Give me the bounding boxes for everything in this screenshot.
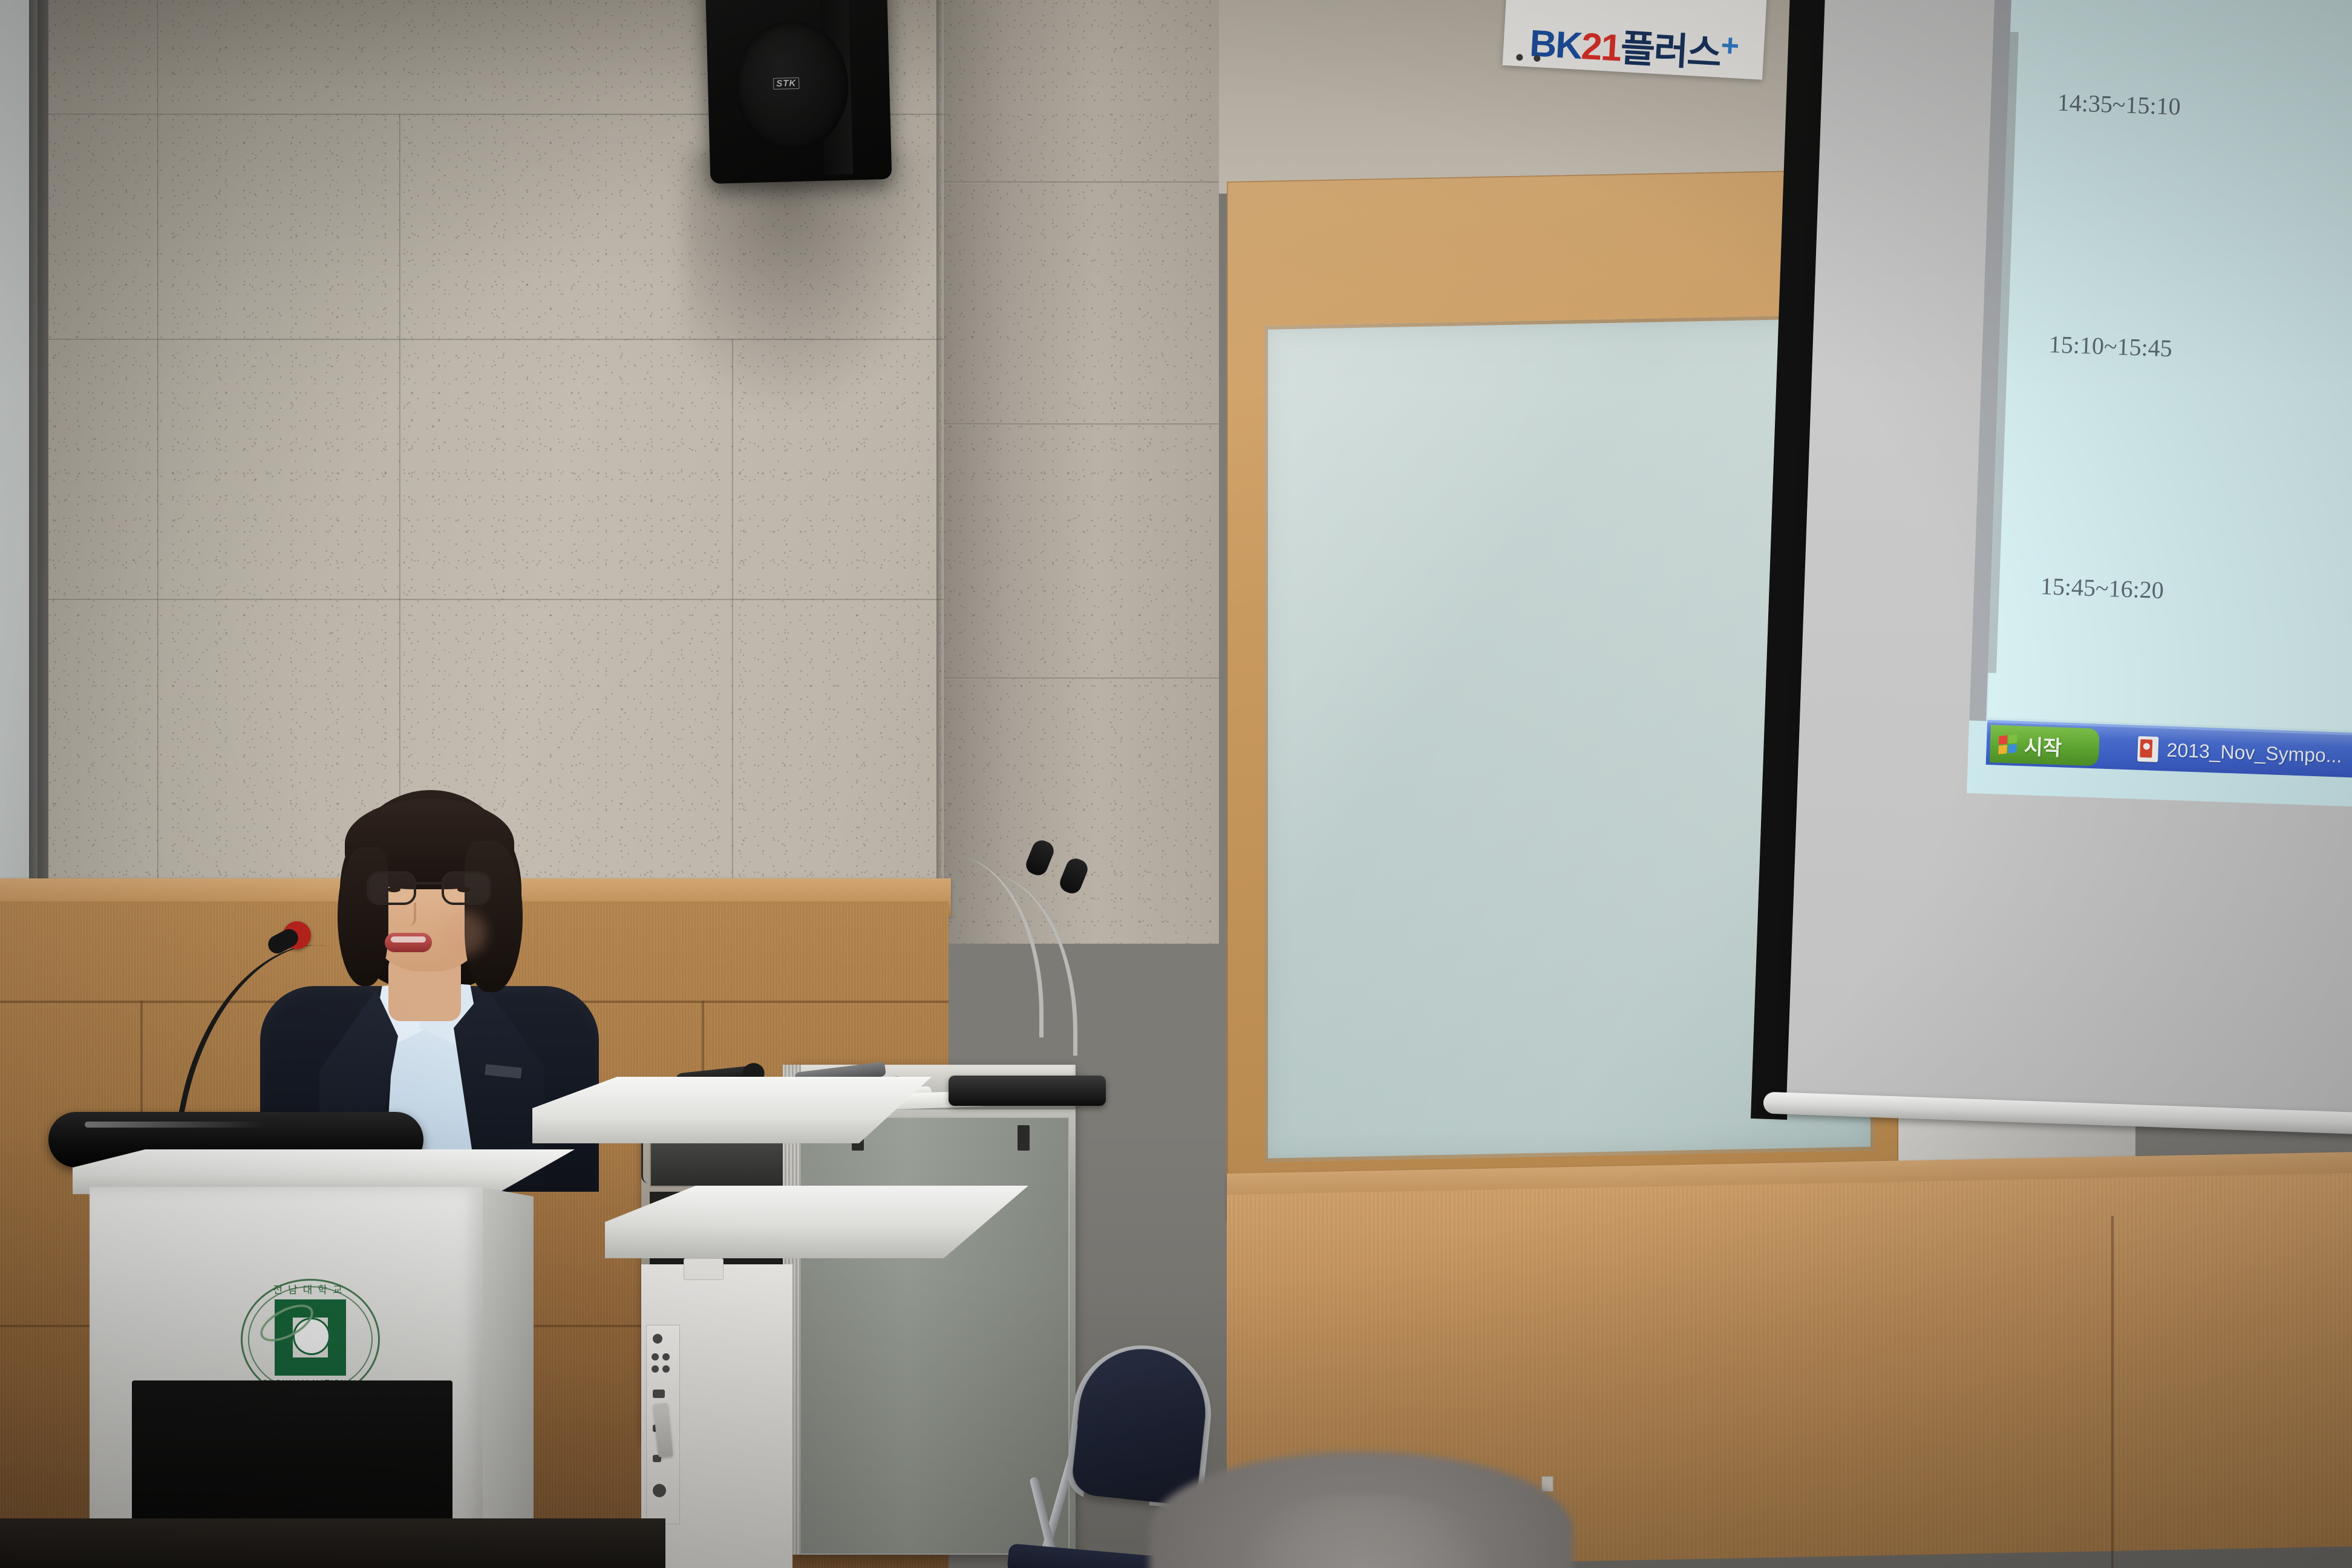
emblem-korean-text: 전남대학교 [241,1281,380,1296]
projected-slide-image: 14:35~15:10 15:10~15:45 15:45~16:20 D E … [1967,0,2352,808]
eyeglass-lens-left [367,871,416,905]
photo-scene: BK21플러스+ STK 14:35~15:10 15:10~15:45 15:… [0,0,2352,1568]
schedule-time-1: 14:35~15:10 [2057,88,2181,121]
cabinet-latch[interactable] [684,1258,724,1280]
lectern-front-panel: 전남대학교 CHONNAM NATIONAL UNIVERSITY [90,1187,483,1568]
eyeglass-bridge [416,882,442,884]
banner-korean-text: 플러스 [1619,28,1722,75]
windows-logo-icon [1998,734,2017,754]
stone-speckle-texture [944,0,1219,944]
taskbar-item-powerpoint[interactable]: 2013_Nov_Sympo... [2137,736,2342,769]
taskbar-item-label: 2013_Nov_Sympo... [2166,739,2342,767]
rack-gooseneck-microphones [935,832,1116,1086]
wood-seam [2111,1216,2114,1568]
wall-outlet-plate[interactable] [1541,1476,1553,1492]
stone-seam [944,678,1219,679]
cheek-highlight [442,911,486,956]
connector-port[interactable] [652,1353,659,1361]
stone-seam [944,423,1219,425]
connector-port[interactable] [653,1334,662,1344]
eye-left [387,887,400,892]
connector-port[interactable] [662,1353,670,1361]
eyeglass-lens-right [442,871,491,905]
stone-seam [157,0,159,932]
nose [400,903,416,927]
gooseneck-stem [969,874,1077,1056]
banner-plus-icon: + [1720,28,1739,64]
powerpoint-file-icon [2137,736,2158,762]
connector-port[interactable] [652,1365,659,1373]
mouth [385,933,432,952]
banner-number-text: 21 [1580,25,1622,70]
schedule-time-2: 15:10~15:45 [2048,330,2172,362]
main-lectern: 전남대학교 CHONNAM NATIONAL UNIVERSITY [73,1149,575,1568]
connector-port[interactable] [662,1365,670,1373]
microphone-capsule-icon [1057,855,1090,896]
corner-column [944,0,1219,944]
gooseneck-microphone[interactable] [969,874,1077,1056]
wall-pa-speaker: STK [705,0,892,184]
projection-screen-assembly: 14:35~15:10 15:10~15:45 15:45~16:20 D E … [1751,0,2352,1146]
lectern-side-panel [479,1187,534,1568]
connector-port[interactable] [653,1484,666,1497]
start-button[interactable]: 시작 [1990,725,2100,766]
connector-port[interactable] [653,1390,665,1398]
stone-seam [732,339,734,932]
stone-seam [944,181,1219,183]
speaker-wall-shadow [684,151,938,417]
eye-right [457,887,471,892]
floor-shadow-area [0,1518,665,1568]
microphone-capsule-icon [1023,837,1056,878]
cabinet-vent-slot [1018,1125,1030,1151]
eyeglasses [367,871,491,905]
speaker-brand-label: STK [773,77,799,90]
chair-seat [1007,1543,1160,1568]
schedule-time-3: 15:45~16:20 [2040,572,2164,604]
start-button-label: 시작 [2024,730,2062,761]
